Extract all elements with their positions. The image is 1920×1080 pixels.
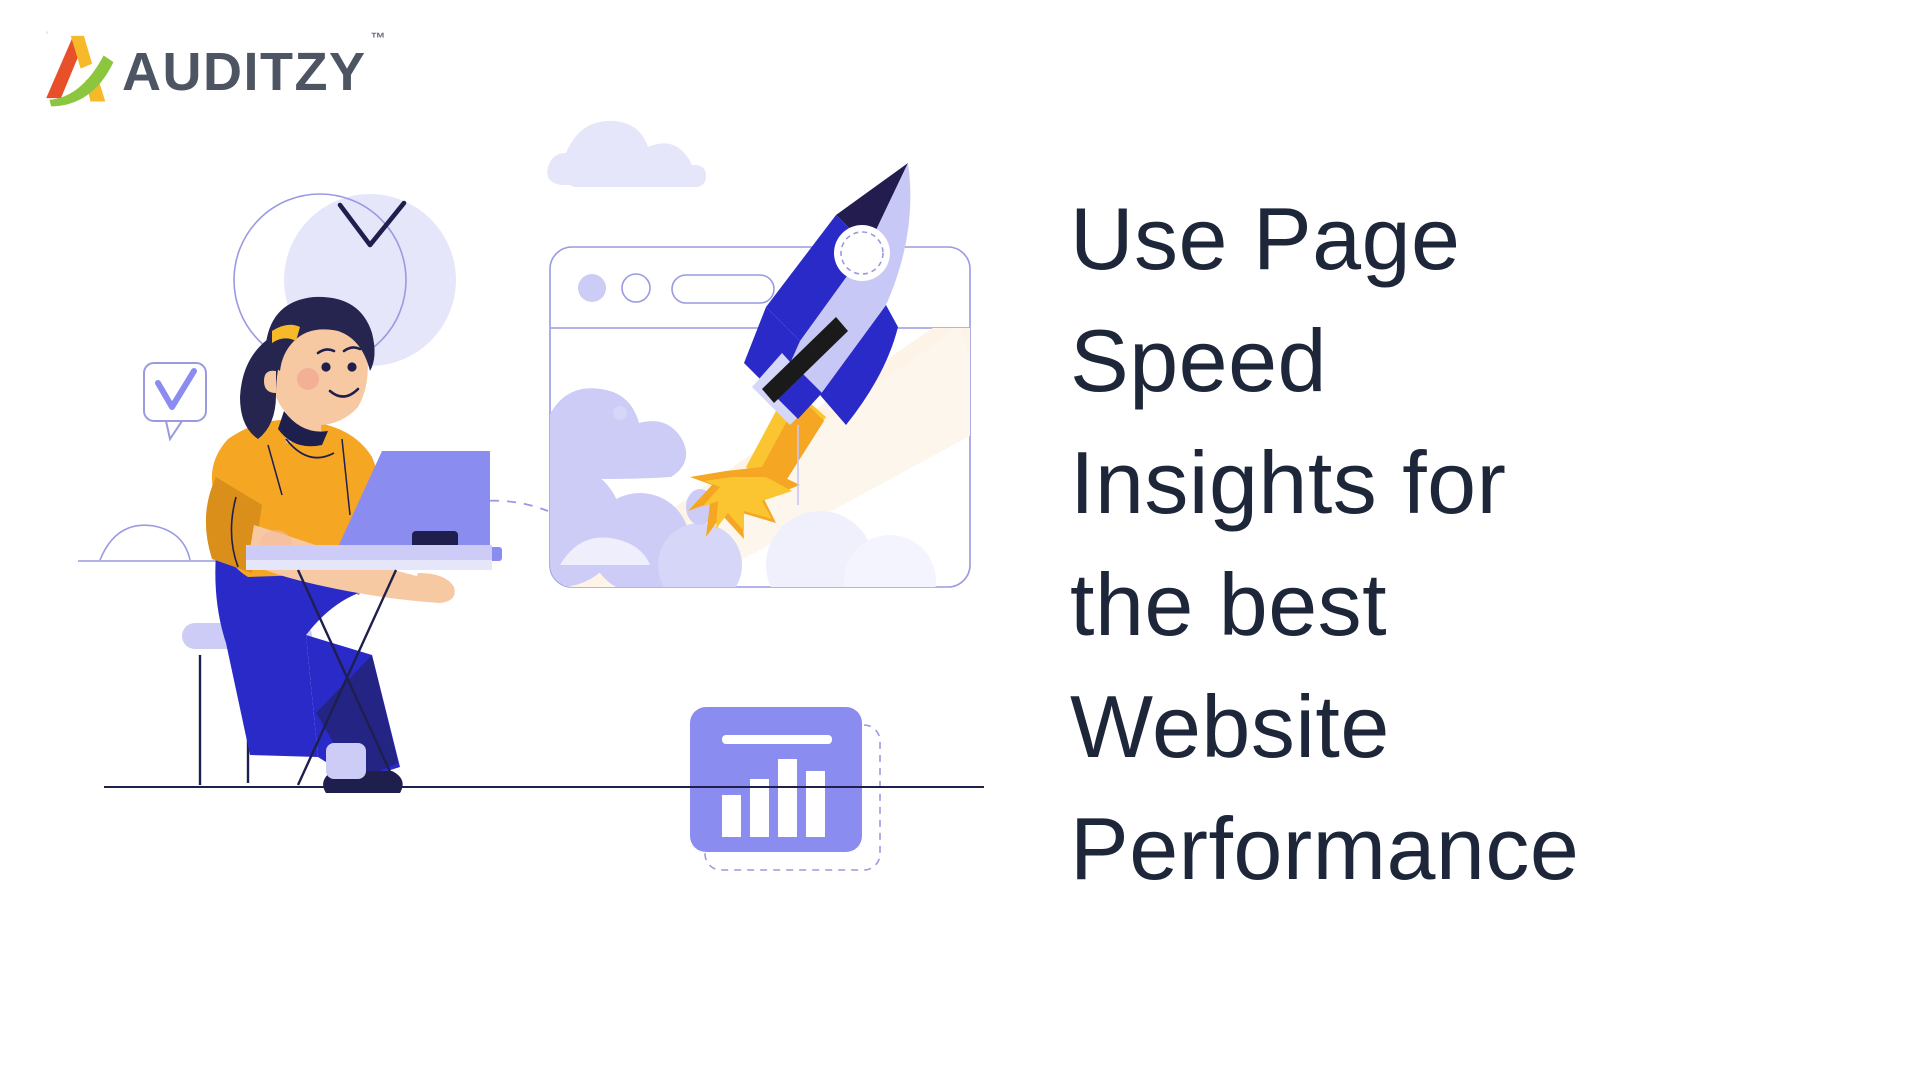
- headline-line-1: Use Page: [1070, 178, 1870, 300]
- page-root: ' AUDITZY™: [0, 0, 1920, 1080]
- page-title: Use Page Speed Insights for the best Web…: [1070, 178, 1870, 910]
- hero-illustration: [0, 95, 1000, 995]
- bar-chart-icon[interactable]: [690, 707, 880, 870]
- headline-line-5: Website: [1070, 666, 1870, 788]
- tiny-mark-icon: ': [46, 30, 48, 42]
- cloud-icon-top: [547, 121, 706, 187]
- woman-at-laptop-with-rocket-launch-illustration: [0, 95, 1000, 995]
- headline-line-2: Speed: [1070, 300, 1870, 422]
- brand-name-text: AUDITZY: [122, 42, 366, 102]
- check-bubble-icon[interactable]: [144, 363, 206, 439]
- trademark-icon: ™: [370, 30, 385, 47]
- headline-line-3: Insights for: [1070, 422, 1870, 544]
- brand-wordmark: AUDITZY™: [122, 45, 381, 99]
- browser-dot-filled[interactable]: [578, 274, 606, 302]
- headline-line-4: the best: [1070, 544, 1870, 666]
- headline-line-6: Performance: [1070, 788, 1870, 910]
